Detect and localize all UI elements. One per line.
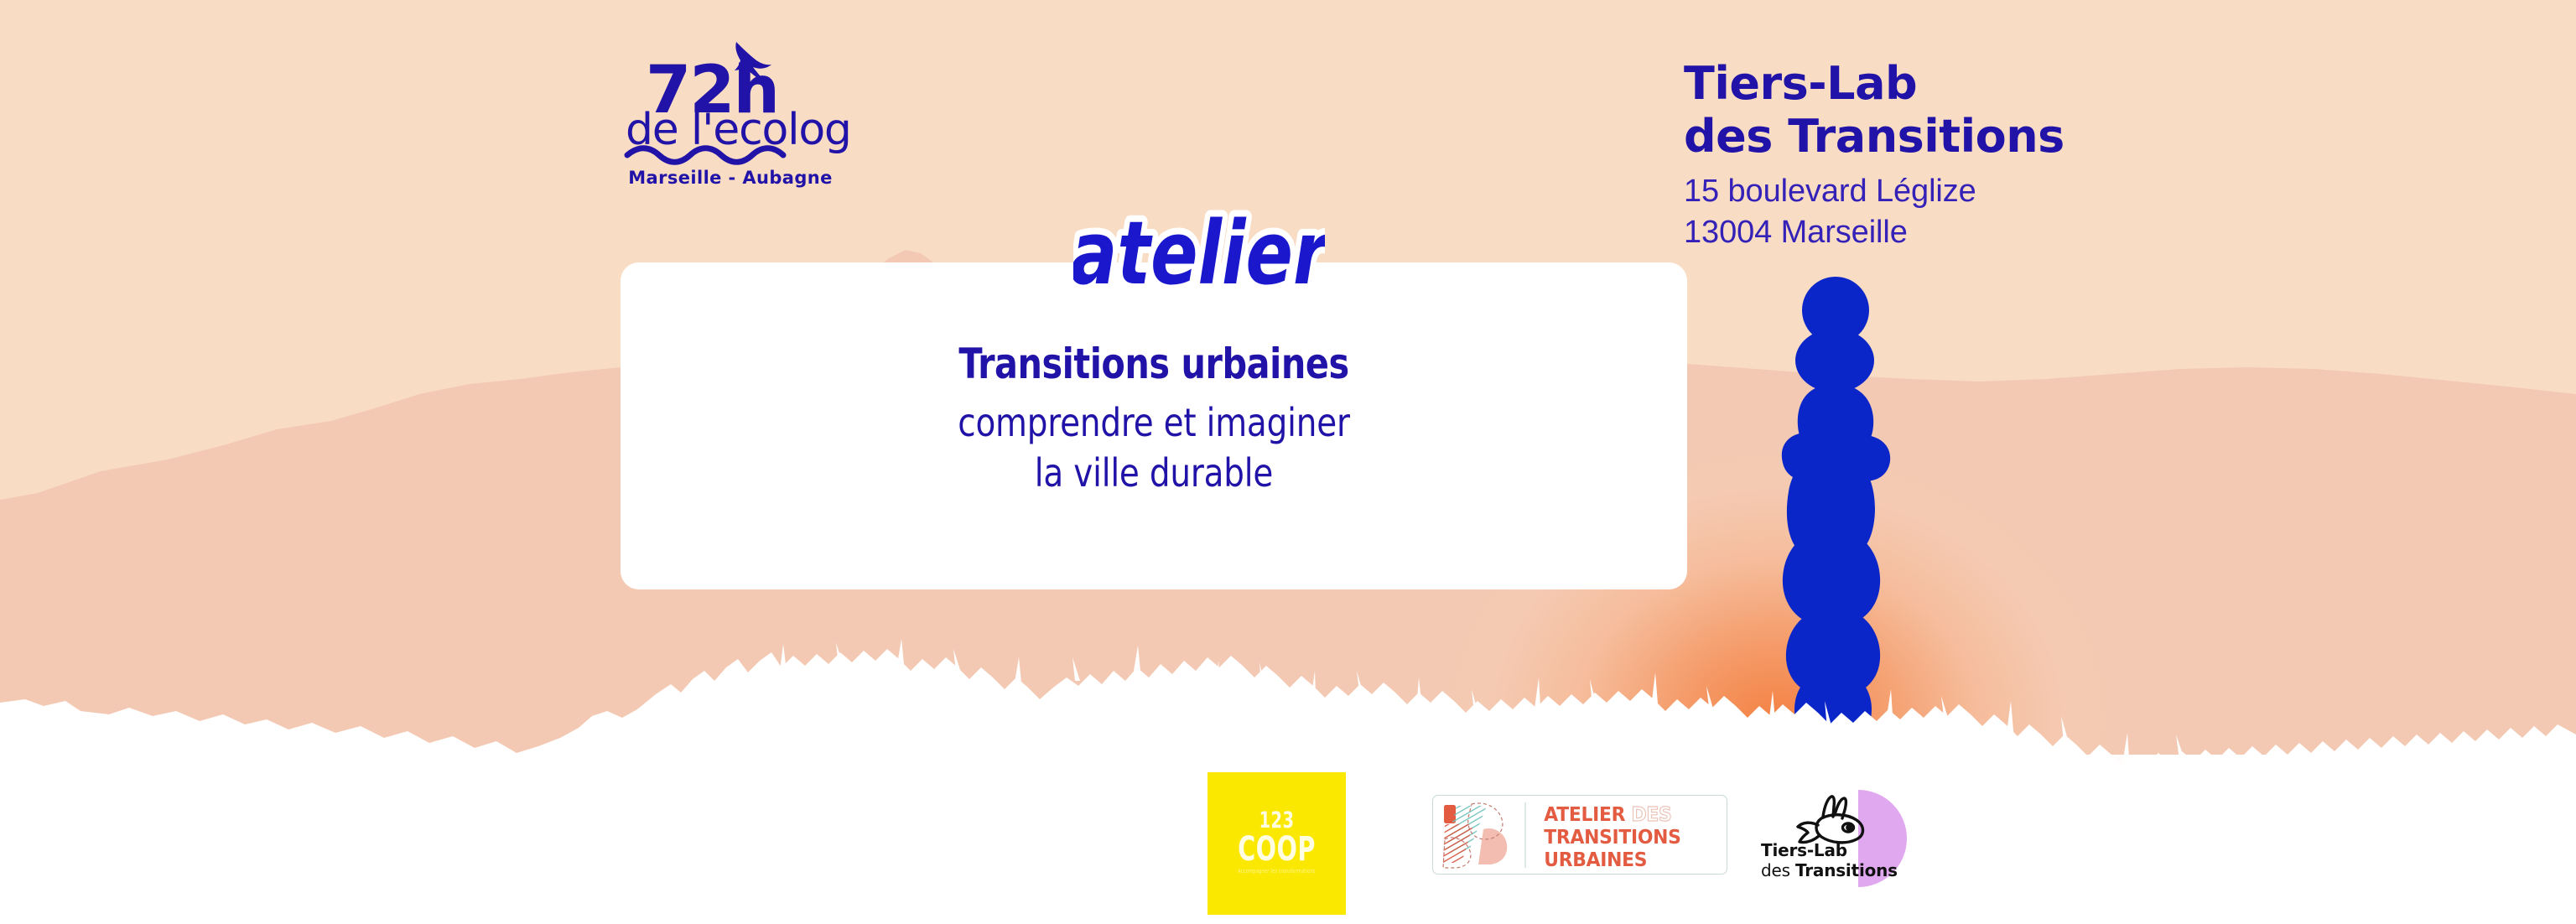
partner-logos-row: 123 COOP Accompagner les transformations: [1199, 755, 1954, 906]
event-logo-72h: 72h de l'ecologie Marseille - Aubagne: [609, 40, 852, 200]
partner-logo-tiers-lab[interactable]: Tiers-Lab des Transitions: [1759, 780, 1927, 897]
coop-word: COOP: [1222, 833, 1332, 867]
atu-line2: TRANSITIONS: [1544, 827, 1680, 849]
atelier-label: atelier: [1073, 204, 1325, 304]
atu-wordmark: ATELIER DES TRANSITIONS URBAINES: [1544, 804, 1680, 872]
event-info-card-content: Transitions urbaines comprendre et imagi…: [621, 340, 1687, 499]
atu-pictogram-icon: [1436, 796, 1529, 873]
event-location-label: Marseille - Aubagne: [609, 168, 852, 188]
tiers-lab-des: des: [1761, 860, 1795, 880]
tiers-lab-transitions: Transitions: [1795, 860, 1898, 880]
atu-des: DES: [1631, 804, 1671, 826]
venue-city: 13004 Marseille: [1684, 212, 2064, 253]
wave-underline-icon: [627, 148, 783, 163]
coop-lockup: 123 COOP Accompagner les transformations: [1222, 809, 1332, 875]
venue-street: 15 boulevard Léglize: [1684, 171, 2064, 212]
event-info-card: Transitions urbaines comprendre et imagi…: [621, 262, 1687, 589]
rabbit-fish-line-icon: [1798, 797, 1863, 843]
coop-number: 123: [1222, 809, 1332, 833]
event-title: Transitions urbaines: [663, 340, 1644, 388]
partner-logo-atelier-transitions-urbaines[interactable]: ATELIER DES TRANSITIONS URBAINES: [1432, 795, 1727, 875]
atu-atelier: ATELIER: [1544, 804, 1625, 826]
tiers-lab-wordmark: Tiers-Lab des Transitions: [1761, 840, 1898, 881]
poster-canvas: 72h de l'ecologie Marseille - Aubagne Ti…: [0, 0, 2576, 924]
venue-name-line2: des Transitions: [1684, 110, 2064, 163]
event-subtitle: comprendre et imaginer la ville durable: [652, 398, 1655, 499]
event-kicker-atelier: atelier atelier: [1073, 200, 1325, 309]
atu-line3: URBAINES: [1544, 849, 1680, 872]
venue-name-line1: Tiers-Lab: [1684, 57, 2064, 110]
event-subtitle-line1: comprendre et imaginer: [652, 398, 1655, 449]
tiers-lab-line1: Tiers-Lab: [1761, 840, 1847, 860]
svg-text:de l'ecologie: de l'ecologie: [626, 105, 852, 155]
logo-72h-mark: 72h de l'ecologie: [609, 40, 852, 166]
partner-logo-123coop[interactable]: 123 COOP Accompagner les transformations: [1207, 772, 1346, 915]
atu-line1: ATELIER DES: [1544, 804, 1680, 827]
coop-tagline: Accompagner les transformations: [1222, 869, 1332, 875]
event-subtitle-line2: la ville durable: [652, 449, 1655, 499]
venue-address-block: Tiers-Lab des Transitions 15 boulevard L…: [1684, 57, 2064, 253]
